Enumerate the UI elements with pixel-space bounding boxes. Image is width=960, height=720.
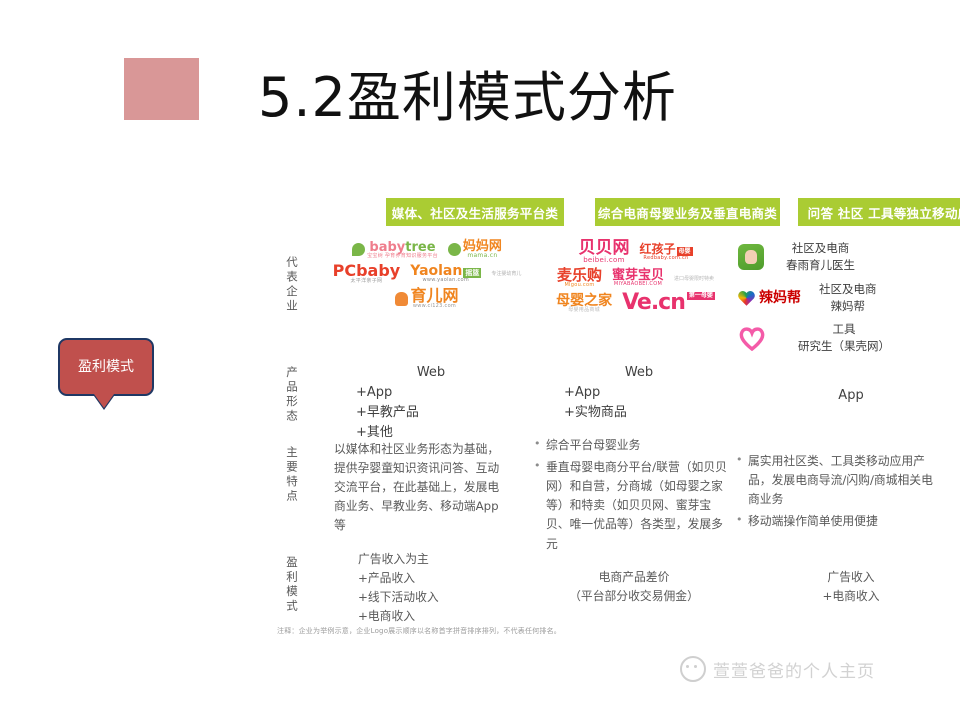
callout-tail-icon [94, 394, 114, 408]
logo-beibei: 贝贝网 beibei.com [578, 240, 629, 264]
product-form-item: +早教产品 [356, 403, 506, 423]
app-category-lamabang: 社区及电商 [819, 281, 877, 298]
watermark-avatar-icon [680, 656, 706, 682]
logo-pcbaby-primary: PCbaby [333, 263, 401, 279]
logo-yaolan-sub: www.yaolan.com [423, 278, 470, 283]
logo-lamabang-primary: 辣妈帮 [759, 291, 801, 305]
logo-group-col1: babytree 宝宝树 孕育养育知识服务平台 妈妈网 mama.cn PCba… [332, 240, 522, 352]
logo-row: PCbaby 太平洋亲子网 Yaolan摇篮 www.yaolan.com 专注… [332, 263, 522, 284]
row-label-profit-model: 盈利模式 [284, 556, 300, 614]
feature-bullet: 移动端操作简单使用便捷 [736, 512, 942, 531]
logo-row: 辣妈帮 社区及电商 辣妈帮 [738, 281, 946, 316]
profit-item: 广告收入为主 [358, 550, 518, 569]
product-form-item: +App [564, 383, 714, 403]
profit-item: 电商产品差价 [544, 568, 724, 587]
app-name-yanjiusheng: 研究生（果壳网） [798, 338, 890, 355]
logo-ci123: 育儿网 www.ci123.com [395, 288, 458, 309]
app-category-spring: 社区及电商 [786, 240, 855, 257]
profit-item: +线下活动收入 [358, 588, 518, 607]
heart-pink-icon [738, 325, 766, 351]
app-category-yanjiusheng: 工具 [798, 321, 890, 338]
product-form-item: App [776, 386, 926, 406]
logo-mama-sub: mama.cn [467, 253, 497, 259]
callout-bubble: 盈利模式 [58, 338, 154, 400]
column-header-media: 媒体、社区及生活服务平台类 [386, 198, 564, 226]
product-form-col2: Web +App +实物商品 [564, 363, 714, 423]
logo-miyabaobei-sub: MIYABAOBEI.COM [614, 282, 662, 287]
profit-model-col1: 广告收入为主 +产品收入 +线下活动收入 +电商收入 [358, 550, 518, 626]
feature-bullet: 属实用社区类、工具类移动应用产品，发展电商导流/闪购/商城相关电商业务 [736, 452, 942, 509]
logo-row: 工具 研究生（果壳网） [738, 321, 946, 356]
profit-model-col3: 广告收入 +电商收入 [766, 568, 936, 606]
logo-miyabaobei: 蜜芽宝贝 MIYABAOBEI.COM [612, 269, 664, 287]
logo-ve-cn-badge: 第一母婴 [687, 292, 715, 300]
logo-ci123-primary: 育儿网 [410, 288, 458, 304]
profit-item: （平台部分收交易佣金） [544, 587, 724, 606]
logo-mlgou: 麦乐购 Mlgou.com [557, 268, 602, 288]
watermark-text: 萱萱爸爸的个人主页 [713, 657, 875, 682]
logo-muyingzhijia: 母婴之家 母婴用品商城 [556, 294, 612, 313]
heart-rainbow-icon [738, 290, 755, 306]
logo-ve-cn-primary: Ve.cn [622, 292, 685, 314]
logo-row: 贝贝网 beibei.com 红孩子母婴 Redbaby.com.cn [538, 240, 733, 264]
logo-redbaby-primary: 红孩子 [639, 242, 675, 256]
logo-mlgou-primary: 麦乐购 [557, 268, 602, 283]
tree-icon [352, 243, 365, 256]
row-label-representative-companies: 代表企业 [284, 256, 300, 314]
app-icon-spring [738, 244, 764, 270]
logo-miyabaobei-tagline: 进口母婴限时特卖 [674, 275, 714, 282]
footnote: 注释：企业为举例示意，企业Logo展示顺序以名称首字拼音排序排列，不代表任何排名… [277, 626, 561, 636]
slide-title-bar: 5.2盈利模式分析 [0, 0, 960, 150]
logo-group-col2: 贝贝网 beibei.com 红孩子母婴 Redbaby.com.cn 麦乐购 … [538, 240, 733, 352]
logo-row: 育儿网 www.ci123.com [332, 288, 522, 309]
logo-pcbaby-sub: 太平洋亲子网 [351, 279, 383, 284]
logo-mlgou-sub: Mlgou.com [564, 283, 594, 288]
logo-row: 麦乐购 Mlgou.com 蜜芽宝贝 MIYABAOBEI.COM 进口母婴限时… [538, 268, 733, 288]
comparison-matrix: 媒体、社区及生活服务平台类 综合电商母婴业务及垂直电商类 问答 社区 工具等独立… [276, 198, 952, 648]
baby-icon [395, 292, 408, 306]
logo-row: babytree 宝宝树 孕育养育知识服务平台 妈妈网 mama.cn [332, 240, 522, 259]
logo-group-col3: 社区及电商 春雨育儿医生 辣妈帮 社区及电商 辣妈帮 工具 研究生（果壳网） [738, 240, 946, 352]
logo-babytree-sub: 宝宝树 孕育养育知识服务平台 [367, 254, 438, 259]
profit-item: +产品收入 [358, 569, 518, 588]
logo-row: 母婴之家 母婴用品商城 Ve.cn 第一母婴 [538, 292, 733, 314]
logo-lamabang: 辣妈帮 [738, 290, 801, 306]
feature-bullet: 综合平台母婴业务 [534, 436, 730, 455]
logo-redbaby: 红孩子母婴 Redbaby.com.cn [639, 243, 692, 261]
product-form-item: Web [564, 363, 714, 383]
logo-ci123-sub: www.ci123.com [413, 304, 456, 309]
logo-beibei-sub: beibei.com [583, 257, 625, 264]
profit-item: +电商收入 [358, 607, 518, 626]
feature-bullet: 垂直母婴电商分平台/联营（如贝贝网）和自营，分商城（如母婴之家等）和特卖（如贝贝… [534, 458, 730, 554]
features-col2: 综合平台母婴业务 垂直母婴电商分平台/联营（如贝贝网）和自营，分商城（如母婴之家… [534, 436, 730, 557]
app-name-spring: 春雨育儿医生 [786, 257, 855, 274]
logo-mama-cn: 妈妈网 mama.cn [448, 240, 502, 259]
logo-muyingzhijia-primary: 母婴之家 [556, 294, 612, 308]
profit-item: +电商收入 [766, 587, 936, 606]
app-name-lamabang: 辣妈帮 [819, 298, 877, 315]
matrix-column-headers: 媒体、社区及生活服务平台类 综合电商母婴业务及垂直电商类 问答 社区 工具等独立… [330, 198, 950, 228]
logo-pcbaby: PCbaby 太平洋亲子网 [333, 263, 401, 284]
profit-model-col2: 电商产品差价 （平台部分收交易佣金） [544, 568, 724, 606]
column-header-ecommerce: 综合电商母婴业务及垂直电商类 [595, 198, 780, 226]
page-title: 5.2盈利模式分析 [258, 53, 677, 132]
row-label-product-form: 产品形态 [284, 366, 300, 424]
logo-row: 社区及电商 春雨育儿医生 [738, 240, 946, 275]
logo-babytree: babytree 宝宝树 孕育养育知识服务平台 [352, 241, 438, 259]
title-accent-square [124, 58, 199, 120]
row-label-main-features: 主要特点 [284, 446, 300, 504]
product-form-col1: Web +App +早教产品 +其他 [356, 363, 506, 444]
logo-redbaby-sub: Redbaby.com.cn [643, 256, 688, 261]
mama-icon [448, 243, 461, 256]
callout-label: 盈利模式 [58, 338, 154, 396]
logo-beibei-primary: 贝贝网 [578, 240, 629, 257]
features-col3: 属实用社区类、工具类移动应用产品，发展电商导流/闪购/商城相关电商业务 移动端操… [736, 452, 942, 534]
features-col1: 以媒体和社区业务形态为基础，提供孕婴童知识资讯问答、互动交流平台，在此基础上，发… [334, 440, 504, 536]
product-form-col3: App [776, 386, 926, 406]
column-header-mobile-apps: 问答 社区 工具等独立移动应用 [798, 198, 960, 226]
logo-yaolan: Yaolan摇篮 www.yaolan.com [410, 264, 481, 283]
logo-ve-cn: Ve.cn 第一母婴 [622, 292, 715, 314]
logo-muyingzhijia-sub: 母婴用品商城 [568, 308, 600, 313]
product-form-item: +实物商品 [564, 403, 714, 423]
features-paragraph: 以媒体和社区业务形态为基础，提供孕婴童知识资讯问答、互动交流平台，在此基础上，发… [334, 440, 504, 536]
watermark: 萱萱爸爸的个人主页 [680, 656, 875, 682]
logo-yaolan-tagline: 专注婴幼育儿 [491, 270, 521, 277]
profit-item: 广告收入 [766, 568, 936, 587]
product-form-item: +App [356, 383, 506, 403]
product-form-item: Web [356, 363, 506, 383]
